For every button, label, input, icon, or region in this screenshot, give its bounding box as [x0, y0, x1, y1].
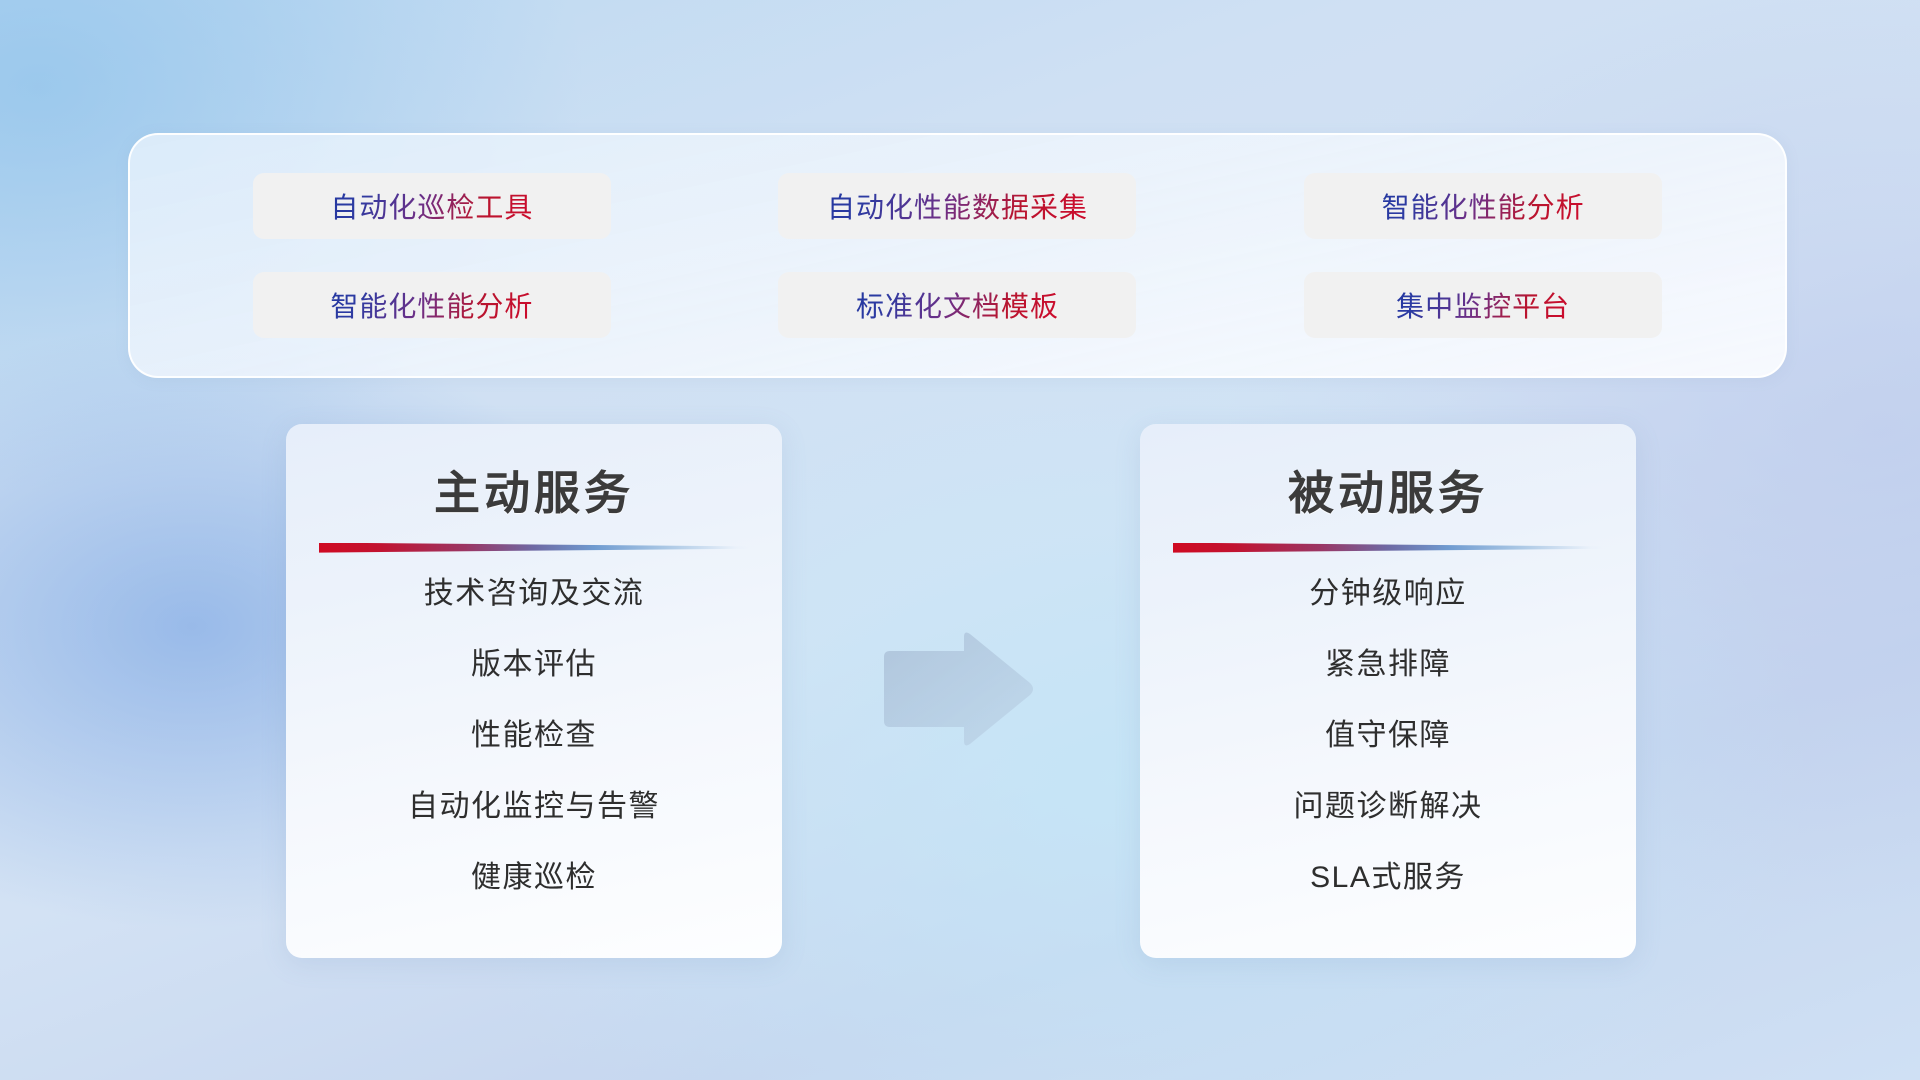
service-list-item: 自动化监控与告警	[408, 792, 660, 822]
service-list-item: SLA式服务	[1310, 863, 1466, 893]
card-title-divider	[319, 543, 749, 553]
arrow-right-icon	[878, 630, 1036, 748]
service-list-item: 技术咨询及交流	[424, 579, 645, 609]
capability-tag-label: 自动化巡检工具	[330, 186, 533, 226]
capability-tags-panel: 自动化巡检工具 自动化性能数据采集 智能化性能分析 智能化性能分析 标准化文档模…	[128, 133, 1787, 378]
card-title: 主动服务	[434, 468, 634, 519]
capability-tag[interactable]: 自动化性能数据采集	[778, 173, 1136, 239]
service-card-proactive[interactable]: 主动服务 技术咨询及交流 版本评估 性能检查 自动化监控与告警 健康巡检	[286, 424, 782, 958]
service-list-item: 分钟级响应	[1309, 579, 1467, 609]
service-list-item: 性能检查	[471, 721, 597, 751]
diagram-canvas: 自动化巡检工具 自动化性能数据采集 智能化性能分析 智能化性能分析 标准化文档模…	[0, 0, 1920, 1080]
capability-tag-label: 标准化文档模板	[856, 285, 1059, 325]
capability-tag[interactable]: 集中监控平台	[1304, 272, 1662, 338]
capability-tag[interactable]: 智能化性能分析	[1304, 173, 1662, 239]
service-card-reactive[interactable]: 被动服务 分钟级响应 紧急排障 值守保障 问题诊断解决 SLA式服务	[1140, 424, 1636, 958]
card-title-divider	[1173, 543, 1603, 553]
capability-tag[interactable]: 智能化性能分析	[253, 272, 611, 338]
service-item-list: 技术咨询及交流 版本评估 性能检查 自动化监控与告警 健康巡检	[312, 579, 756, 893]
service-list-item: 健康巡检	[471, 863, 597, 893]
service-list-item: 值守保障	[1325, 721, 1451, 751]
service-list-item: 紧急排障	[1325, 650, 1451, 680]
capability-tag[interactable]: 自动化巡检工具	[253, 173, 611, 239]
service-list-item: 问题诊断解决	[1294, 792, 1483, 822]
capability-tag-label: 智能化性能分析	[1382, 186, 1585, 226]
card-title: 被动服务	[1288, 468, 1488, 519]
service-list-item: 版本评估	[471, 650, 597, 680]
capability-tag-label: 智能化性能分析	[330, 285, 533, 325]
capability-tag[interactable]: 标准化文档模板	[778, 272, 1136, 338]
service-item-list: 分钟级响应 紧急排障 值守保障 问题诊断解决 SLA式服务	[1166, 579, 1610, 893]
capability-tag-label: 自动化性能数据采集	[827, 186, 1088, 226]
capability-tag-label: 集中监控平台	[1396, 285, 1570, 325]
